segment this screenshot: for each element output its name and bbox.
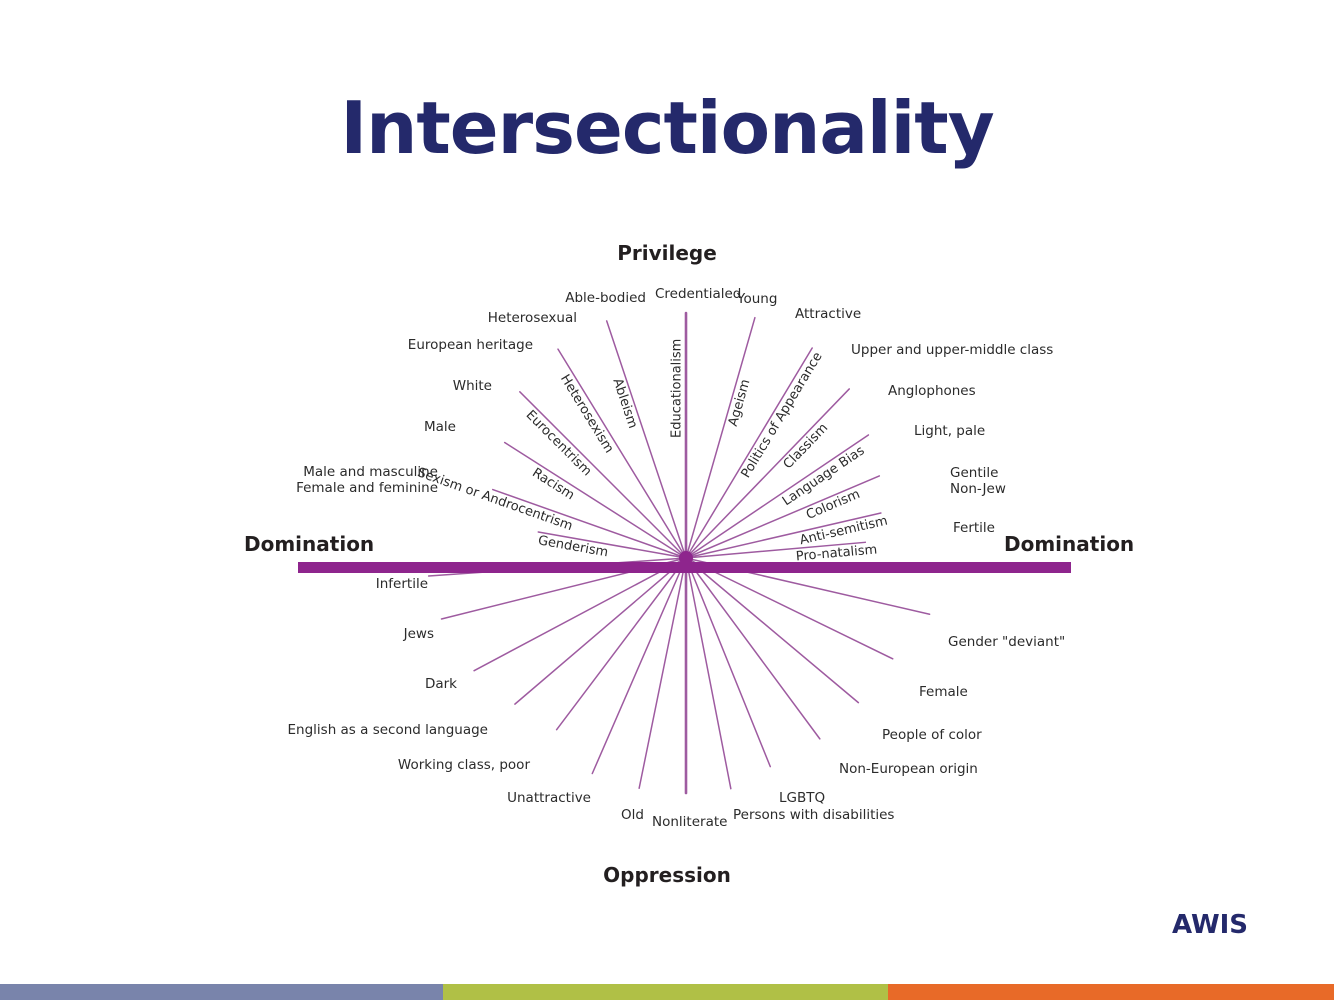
axis-heading-domination-right: Domination: [1004, 532, 1134, 556]
axis-heading-oppression: Oppression: [0, 863, 1334, 887]
oppression-label-12: Female: [919, 685, 968, 701]
privilege-label-3: White: [453, 379, 492, 395]
awis-logo: AWIS: [1172, 910, 1248, 940]
privilege-label-15: Fertile: [953, 521, 995, 537]
privilege-label-11: Anglophones: [888, 384, 976, 400]
spoke-line: [686, 558, 770, 767]
spoke-line: [686, 558, 820, 739]
oppression-label-7: Nonliterate: [652, 815, 727, 831]
oppression-label-4: Working class, poor: [398, 758, 530, 774]
spoke-line: [592, 558, 686, 774]
oppression-label-2: Dark: [425, 677, 457, 693]
privilege-label-0: Male and masculine: [303, 465, 438, 481]
ism-label-6: Educationalism: [670, 339, 685, 438]
privilege-label-5: Heterosexual: [488, 311, 577, 327]
oppression-label-10: Non-European origin: [839, 762, 978, 778]
footer-color-stripes: [0, 984, 1334, 1000]
spoke-line: [686, 558, 893, 659]
spoke-lines: [0, 0, 1334, 1000]
oppression-label-9: LGBTQ: [779, 791, 825, 807]
privilege-label-14: Non-Jew: [950, 482, 1006, 498]
privilege-label-7: Credentialed: [655, 287, 741, 303]
privilege-label-2: Male: [424, 420, 456, 436]
privilege-label-9: Attractive: [795, 307, 861, 323]
privilege-label-6: Able-bodied: [565, 291, 646, 307]
axis-heading-privilege: Privilege: [0, 241, 1334, 265]
intersectionality-wheel-diagram: Privilege Oppression Domination Dominati…: [0, 0, 1334, 1000]
oppression-label-3: English as a second language: [288, 723, 489, 739]
domination-horizontal-bar: [298, 562, 1071, 573]
green-stripe: [443, 984, 888, 1000]
orange-stripe: [888, 984, 1334, 1000]
spoke-line: [505, 442, 686, 558]
axis-heading-domination-left: Domination: [244, 532, 374, 556]
oppression-label-11: People of color: [882, 728, 982, 744]
privilege-label-4: European heritage: [408, 338, 533, 354]
oppression-label-6: Old: [621, 808, 644, 824]
privilege-label-12: Light, pale: [914, 424, 985, 440]
oppression-label-0: Infertile: [376, 577, 428, 593]
spoke-line: [686, 558, 858, 703]
spoke-line: [557, 558, 686, 730]
blue-gray-stripe: [0, 984, 443, 1000]
privilege-label-10: Upper and upper-middle class: [851, 343, 1053, 359]
spoke-line: [474, 558, 686, 671]
privilege-label-13: Gentile: [950, 466, 998, 482]
slide-canvas: Intersectionality Privilege Oppression D…: [0, 0, 1334, 1000]
spoke-line: [686, 558, 731, 789]
oppression-label-8: Persons with disabilities: [733, 808, 894, 824]
oppression-label-5: Unattractive: [507, 791, 591, 807]
oppression-label-1: Jews: [404, 627, 434, 643]
privilege-label-8: Young: [737, 292, 777, 308]
privilege-label-1: Female and feminine: [296, 481, 438, 497]
oppression-label-13: Gender "deviant": [948, 635, 1065, 651]
